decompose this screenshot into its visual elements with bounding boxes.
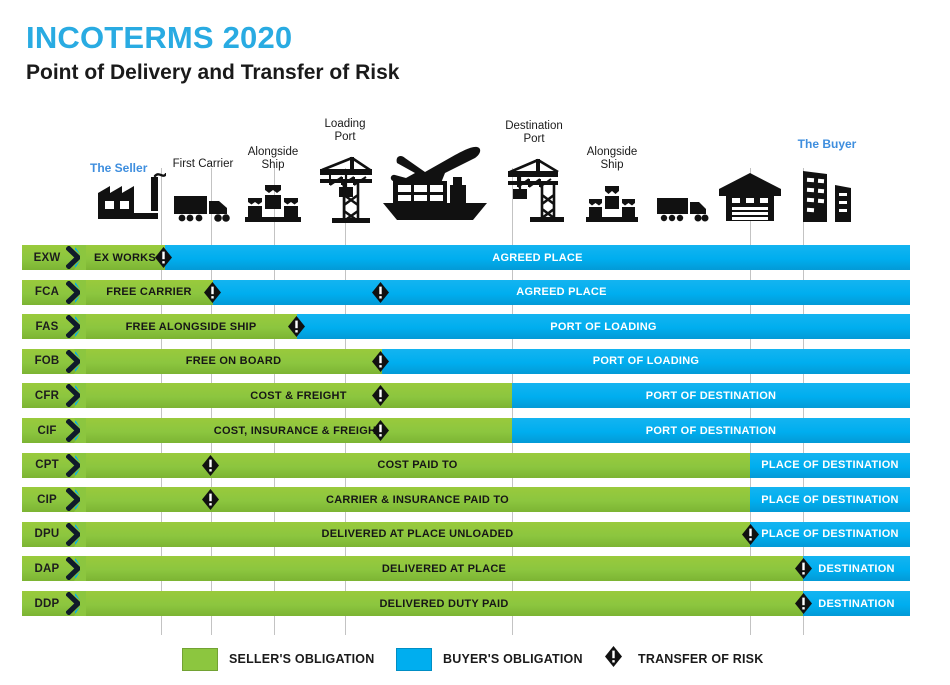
legend-transfer: TRANSFER OF RISK [605, 645, 763, 673]
segment-label: COST & FREIGHT [85, 383, 512, 408]
incoterm-code: EXW [26, 245, 68, 270]
bar-nose [74, 556, 86, 581]
segment-label: AGREED PLACE [213, 280, 910, 305]
buyer-obligation-segment[interactable]: PORT OF DESTINATION [512, 383, 910, 408]
segment-label: FREE ON BOARD [85, 349, 382, 374]
seller-obligation-segment[interactable]: FREE ON BOARD [85, 349, 382, 374]
buyer-obligation-segment[interactable]: PLACE OF DESTINATION [750, 453, 910, 478]
buyer-obligation-segment[interactable]: PLACE OF DESTINATION [750, 487, 910, 512]
transfer-of-risk-marker[interactable] [155, 247, 172, 268]
transfer-of-risk-marker[interactable] [372, 351, 389, 372]
incoterm-row[interactable]: FOBFREE ON BOARDPORT OF LOADING [22, 349, 928, 374]
incoterm-code: CIP [26, 487, 68, 512]
seller-obligation-segment[interactable]: CARRIER & INSURANCE PAID TO [85, 487, 750, 512]
seller-obligation-segment[interactable]: FREE CARRIER [85, 280, 213, 305]
segment-label: AGREED PLACE [165, 245, 910, 270]
seller-swatch [182, 648, 218, 671]
transfer-of-risk-marker[interactable] [372, 385, 389, 406]
segment-label: FREE CARRIER [85, 280, 213, 305]
legend-label: SELLER'S OBLIGATION [229, 652, 374, 666]
incoterm-code: DDP [26, 591, 68, 616]
segment-label: PLACE OF DESTINATION [750, 487, 910, 512]
transfer-of-risk-marker[interactable] [795, 593, 812, 614]
incoterm-code: CFR [26, 383, 68, 408]
seller-obligation-segment[interactable]: FREE ALONGSIDE SHIP [85, 314, 297, 339]
incoterm-row[interactable]: CPTCOST PAID TOPLACE OF DESTINATION [22, 453, 928, 478]
buyer-obligation-segment[interactable]: AGREED PLACE [165, 245, 910, 270]
incoterm-code: CPT [26, 453, 68, 478]
segment-label: DELIVERED AT PLACE UNLOADED [85, 522, 750, 547]
incoterm-row[interactable]: DDPDELIVERED DUTY PAIDDESTINATION [22, 591, 928, 616]
bar-nose [74, 591, 86, 616]
buildings-icon [797, 167, 857, 228]
bar-nose [74, 453, 86, 478]
segment-label: EX WORKS [85, 245, 165, 270]
segment-label: DELIVERED DUTY PAID [85, 591, 803, 616]
incoterm-row[interactable]: FCAFREE CARRIERAGREED PLACE [22, 280, 928, 305]
transfer-of-risk-marker[interactable] [204, 282, 221, 303]
buyer-obligation-segment[interactable]: PORT OF LOADING [382, 349, 910, 374]
legend-seller: SELLER'S OBLIGATION [182, 645, 374, 673]
incoterm-row[interactable]: DPUDELIVERED AT PLACE UNLOADEDPLACE OF D… [22, 522, 928, 547]
seller-obligation-segment[interactable]: DELIVERED AT PLACE UNLOADED [85, 522, 750, 547]
bar-nose [74, 487, 86, 512]
segment-label: COST, INSURANCE & FREIGHT [85, 418, 512, 443]
bar-nose [74, 314, 86, 339]
seller-obligation-segment[interactable]: DELIVERED DUTY PAID [85, 591, 803, 616]
segment-label: PLACE OF DESTINATION [750, 522, 910, 547]
segment-label: PLACE OF DESTINATION [750, 453, 910, 478]
seller-obligation-segment[interactable]: DELIVERED AT PLACE [85, 556, 803, 581]
seller-obligation-segment[interactable]: COST & FREIGHT [85, 383, 512, 408]
legend-label: TRANSFER OF RISK [638, 652, 763, 666]
segment-label: PORT OF DESTINATION [512, 383, 910, 408]
buyer-obligation-segment[interactable]: AGREED PLACE [213, 280, 910, 305]
segment-label: DESTINATION [803, 591, 910, 616]
segment-label: COST PAID TO [85, 453, 750, 478]
seller-obligation-segment[interactable]: COST, INSURANCE & FREIGHT [85, 418, 512, 443]
legend-label: BUYER'S OBLIGATION [443, 652, 583, 666]
buyer-swatch [396, 648, 432, 671]
buyer-obligation-segment[interactable]: DESTINATION [803, 556, 910, 581]
buyer-obligation-segment[interactable]: DESTINATION [803, 591, 910, 616]
legend: SELLER'S OBLIGATIONBUYER'S OBLIGATIONTRA… [0, 645, 950, 675]
bar-nose [74, 280, 86, 305]
loading-crane-caption: LoadingPort [325, 118, 366, 143]
bar-nose [74, 245, 86, 270]
legend-buyer: BUYER'S OBLIGATION [396, 645, 583, 673]
incoterm-row[interactable]: DAPDELIVERED AT PLACEDESTINATION [22, 556, 928, 581]
transfer-of-risk-marker[interactable] [372, 420, 389, 441]
segment-label: PORT OF LOADING [382, 349, 910, 374]
transfer-of-risk-marker[interactable] [288, 316, 305, 337]
bar-nose [74, 383, 86, 408]
segment-label: PORT OF DESTINATION [512, 418, 910, 443]
incoterm-row[interactable]: CIPCARRIER & INSURANCE PAID TOPLACE OF D… [22, 487, 928, 512]
incoterm-row[interactable]: EXWEX WORKSAGREED PLACE [22, 245, 928, 270]
segment-label: PORT OF LOADING [297, 314, 910, 339]
incoterm-code: DPU [26, 522, 68, 547]
transfer-of-risk-marker[interactable] [372, 282, 389, 303]
incoterm-code: FAS [26, 314, 68, 339]
transfer-of-risk-marker[interactable] [742, 524, 759, 545]
segment-label: DESTINATION [803, 556, 910, 581]
incoterm-row[interactable]: FASFREE ALONGSIDE SHIPPORT OF LOADING [22, 314, 928, 339]
segment-label: DELIVERED AT PLACE [85, 556, 803, 581]
incoterm-code: FOB [26, 349, 68, 374]
bar-nose [74, 418, 86, 443]
transfer-of-risk-marker[interactable] [795, 558, 812, 579]
buildings-icon-group: The Buyer [757, 118, 897, 228]
loading-crane-icon [314, 155, 376, 228]
incoterm-code: DAP [26, 556, 68, 581]
buyer-obligation-segment[interactable]: PLACE OF DESTINATION [750, 522, 910, 547]
buyer-obligation-segment[interactable]: PORT OF DESTINATION [512, 418, 910, 443]
seller-obligation-segment[interactable]: COST PAID TO [85, 453, 750, 478]
incoterm-code: FCA [26, 280, 68, 305]
page-title: INCOTERMS 2020 [26, 20, 292, 56]
transfer-of-risk-marker[interactable] [202, 489, 219, 510]
incoterm-row[interactable]: CFRCOST & FREIGHTPORT OF DESTINATION [22, 383, 928, 408]
bar-nose [74, 522, 86, 547]
segment-label: CARRIER & INSURANCE PAID TO [85, 487, 750, 512]
infographic-canvas: INCOTERMS 2020 Point of Delivery and Tra… [0, 0, 950, 685]
transfer-of-risk-marker[interactable] [202, 455, 219, 476]
page-subtitle: Point of Delivery and Transfer of Risk [26, 61, 399, 85]
buyer-obligation-segment[interactable]: PORT OF LOADING [297, 314, 910, 339]
incoterm-row[interactable]: CIFCOST, INSURANCE & FREIGHTPORT OF DEST… [22, 418, 928, 443]
incoterm-code: CIF [26, 418, 68, 443]
bar-nose [74, 349, 86, 374]
seller-obligation-segment[interactable]: EX WORKS [85, 245, 165, 270]
segment-label: FREE ALONGSIDE SHIP [85, 314, 297, 339]
transfer-of-risk-icon [605, 646, 627, 672]
